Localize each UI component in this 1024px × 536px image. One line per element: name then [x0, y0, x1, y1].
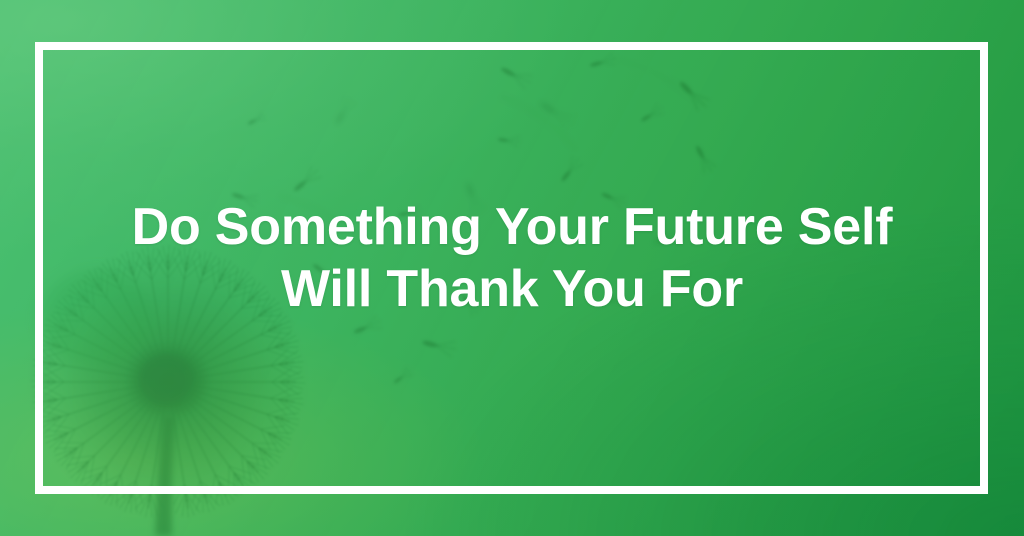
headline-quote: Do Something Your Future Self Will Thank…: [0, 196, 1024, 320]
headline-line-2: Will Thank You For: [0, 258, 1024, 320]
quote-banner: Do Something Your Future Self Will Thank…: [0, 0, 1024, 536]
headline-line-1: Do Something Your Future Self: [0, 196, 1024, 258]
